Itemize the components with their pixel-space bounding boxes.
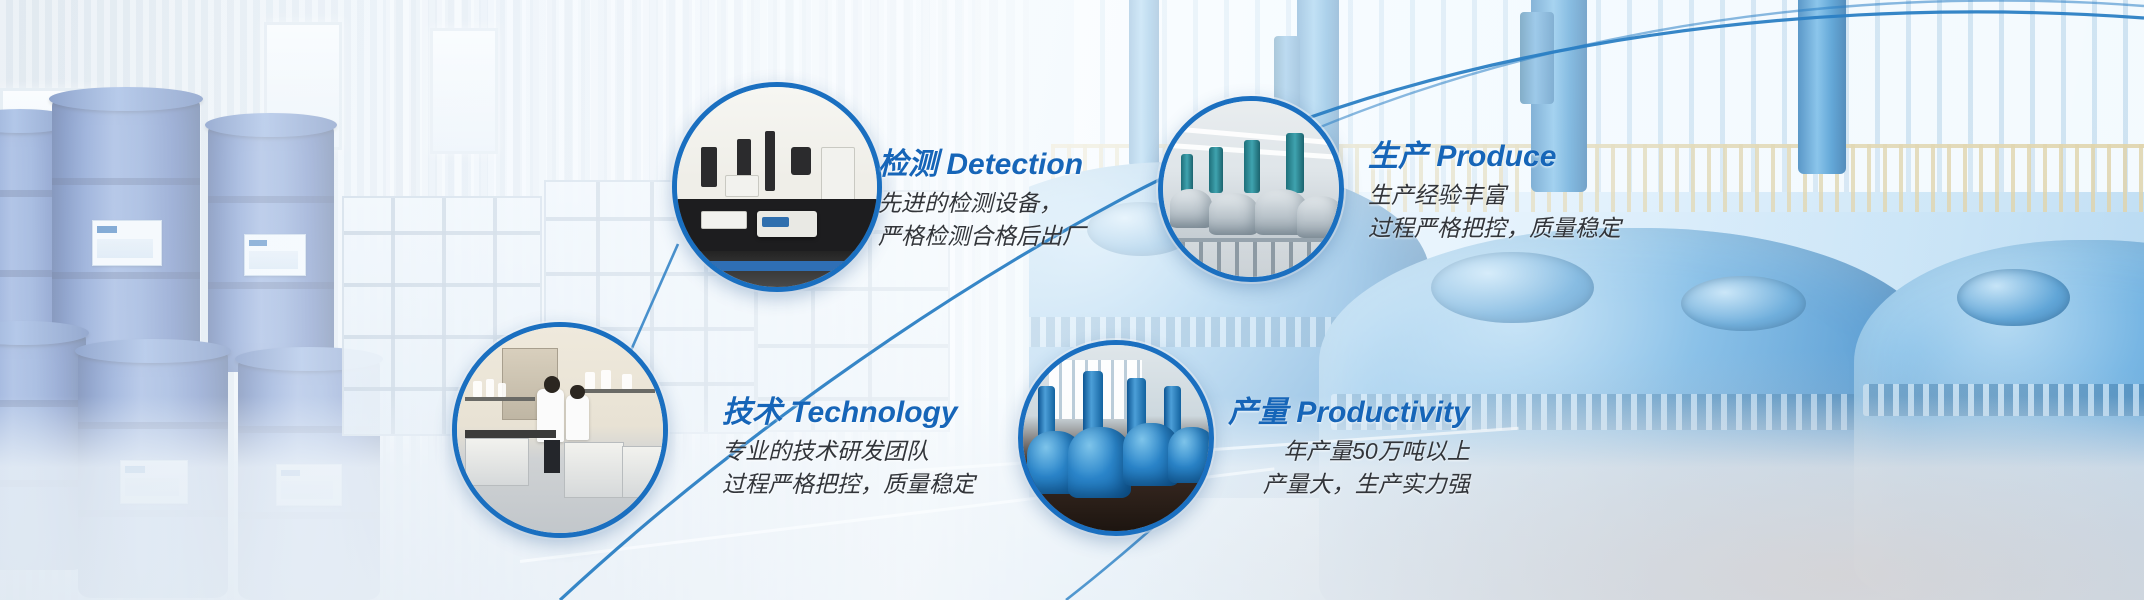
feature-line: 生产经验丰富: [1368, 179, 1621, 212]
productivity-photo: [1023, 345, 1209, 531]
feature-title-technology: 技术 Technology: [722, 396, 975, 429]
feature-line: 产量大，生产实力强: [1228, 468, 1470, 501]
technology-photo: [457, 327, 663, 533]
feature-title-cn: 生产: [1368, 140, 1428, 173]
agitator-shaft: [1798, 0, 1846, 174]
feature-title-productivity: 产量 Productivity: [1228, 396, 1470, 429]
feature-title-cn: 检测: [878, 148, 938, 181]
feature-line: 严格检测合格后出厂: [878, 220, 1085, 253]
feature-title-en: Produce: [1436, 140, 1556, 173]
feature-title-cn: 产量: [1228, 396, 1288, 429]
feature-title-en: Detection: [946, 148, 1083, 181]
feature-line: 过程严格把控，质量稳定: [722, 468, 975, 501]
photo-bubble-detection[interactable]: [672, 82, 882, 292]
reactor-hatch: [1957, 269, 2069, 327]
feature-title-detection: 检测 Detection: [878, 148, 1085, 181]
feature-block-productivity: 产量 Productivity 年产量50万吨以上 产量大，生产实力强: [1228, 396, 1470, 500]
feature-line: 先进的检测设备，: [878, 187, 1085, 220]
feature-line: 过程严格把控，质量稳定: [1368, 212, 1621, 245]
feature-line: 专业的技术研发团队: [722, 435, 975, 468]
feature-title-en: Productivity: [1296, 396, 1469, 429]
feature-block-produce: 生产 Produce 生产经验丰富 过程严格把控，质量稳定: [1368, 140, 1621, 244]
feature-block-detection: 检测 Detection 先进的检测设备， 严格检测合格后出厂: [878, 148, 1085, 252]
factory-window: [430, 28, 498, 154]
feature-title-produce: 生产 Produce: [1368, 140, 1621, 173]
company-strength-banner: 检测 Detection 先进的检测设备， 严格检测合格后出厂 生产 Produ…: [0, 0, 2144, 600]
photo-bubble-produce[interactable]: [1158, 96, 1344, 282]
drum-label: [244, 234, 306, 276]
drum-label: [92, 220, 162, 266]
photo-bubble-productivity[interactable]: [1018, 340, 1214, 536]
feature-title-en: Technology: [790, 396, 957, 429]
electronic-scale: [757, 211, 817, 237]
lab-technician: [566, 395, 589, 440]
reactor-hatch: [1681, 276, 1806, 331]
agitator-shaft: [1129, 0, 1159, 168]
feature-block-technology: 技术 Technology 专业的技术研发团队 过程严格把控，质量稳定: [722, 396, 975, 500]
feature-line: 年产量50万吨以上: [1228, 435, 1470, 468]
photo-bubble-technology[interactable]: [452, 322, 668, 538]
produce-photo: [1163, 101, 1339, 277]
feature-title-cn: 技术: [722, 396, 782, 429]
chemical-drum: [208, 122, 334, 372]
reactor-hatch: [1431, 252, 1593, 323]
detection-photo: [677, 87, 877, 287]
agitator-motor: [1520, 12, 1554, 104]
